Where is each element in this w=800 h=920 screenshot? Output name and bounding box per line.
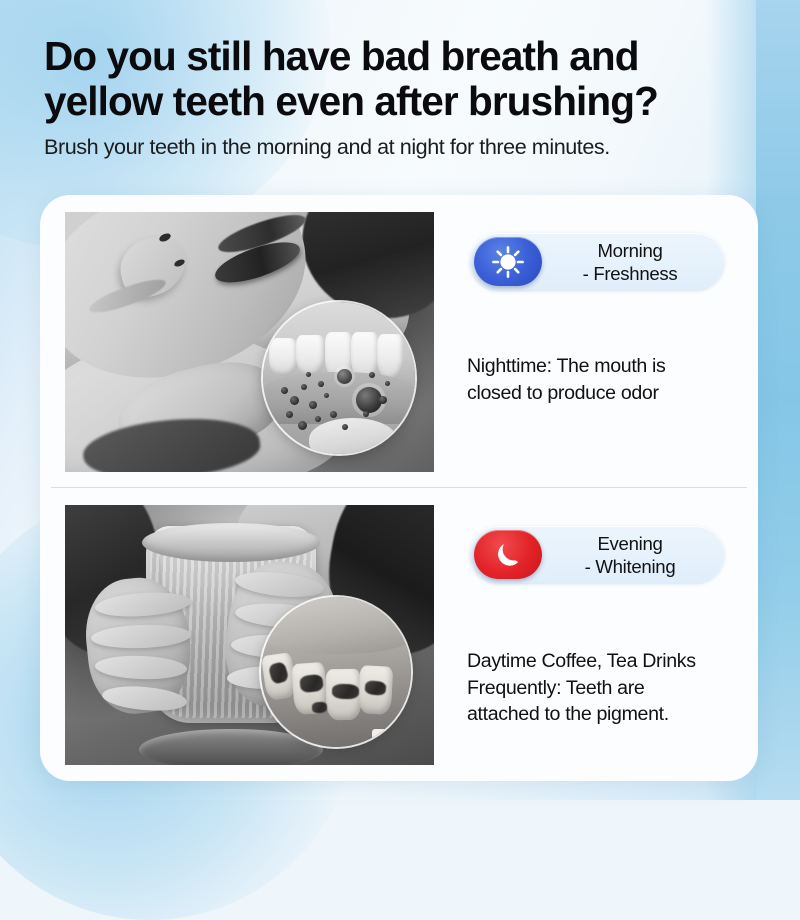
evening-badge[interactable]: Evening - Whitening — [470, 526, 724, 583]
bacteria-icon — [324, 393, 329, 398]
teeth-bacteria-inset — [263, 302, 415, 454]
content-card: Morning - Freshness Nighttime: The mouth… — [40, 195, 758, 781]
header: Do you still have bad breath and yellow … — [44, 34, 764, 160]
morning-badge[interactable]: Morning - Freshness — [470, 233, 724, 290]
page-title: Do you still have bad breath and yellow … — [44, 34, 764, 124]
bacteria-icon — [309, 401, 317, 409]
bacteria-icon — [342, 424, 348, 430]
section-morning: Morning - Freshness Nighttime: The mouth… — [40, 195, 758, 487]
sun-icon — [474, 237, 542, 286]
stained-teeth-inset — [261, 597, 411, 747]
upper-lip-shape — [261, 597, 411, 654]
morning-body-text: Nighttime: The mouth is closed to produc… — [467, 353, 666, 406]
bacteria-icon — [318, 381, 324, 387]
sleeping-woman-photo — [65, 212, 434, 472]
moon-icon — [474, 530, 542, 579]
bacteria-icon — [306, 372, 311, 377]
bacteria-icon — [379, 396, 387, 404]
tooth-shape — [377, 334, 404, 380]
bacteria-icon — [385, 381, 390, 386]
evening-content-column: Evening - Whitening Daytime Coffee, Tea … — [452, 488, 752, 780]
bacteria-icon — [298, 421, 307, 430]
pigment-stain-mark — [331, 684, 359, 700]
highlight-patch — [372, 729, 405, 741]
tooth-shape — [269, 338, 298, 376]
woman-drinking-photo — [65, 505, 434, 765]
page-subtitle: Brush your teeth in the morning and at n… — [44, 134, 764, 160]
tooth-shape — [296, 335, 325, 376]
evening-badge-label: Evening - Whitening — [542, 532, 724, 578]
glass-rim — [142, 523, 319, 562]
evening-body-text: Daytime Coffee, Tea Drinks Frequently: T… — [467, 648, 696, 728]
bacteria-icon — [356, 387, 382, 413]
morning-content-column: Morning - Freshness Nighttime: The mouth… — [452, 195, 752, 487]
morning-badge-label: Morning - Freshness — [542, 239, 724, 285]
pigment-stain-mark — [299, 674, 323, 693]
section-evening: Evening - Whitening Daytime Coffee, Tea … — [40, 488, 758, 780]
pigment-stain-mark — [364, 680, 386, 696]
tongue-shape — [309, 418, 397, 454]
pigment-stain-mark — [312, 701, 328, 713]
bacteria-icon — [315, 416, 321, 422]
